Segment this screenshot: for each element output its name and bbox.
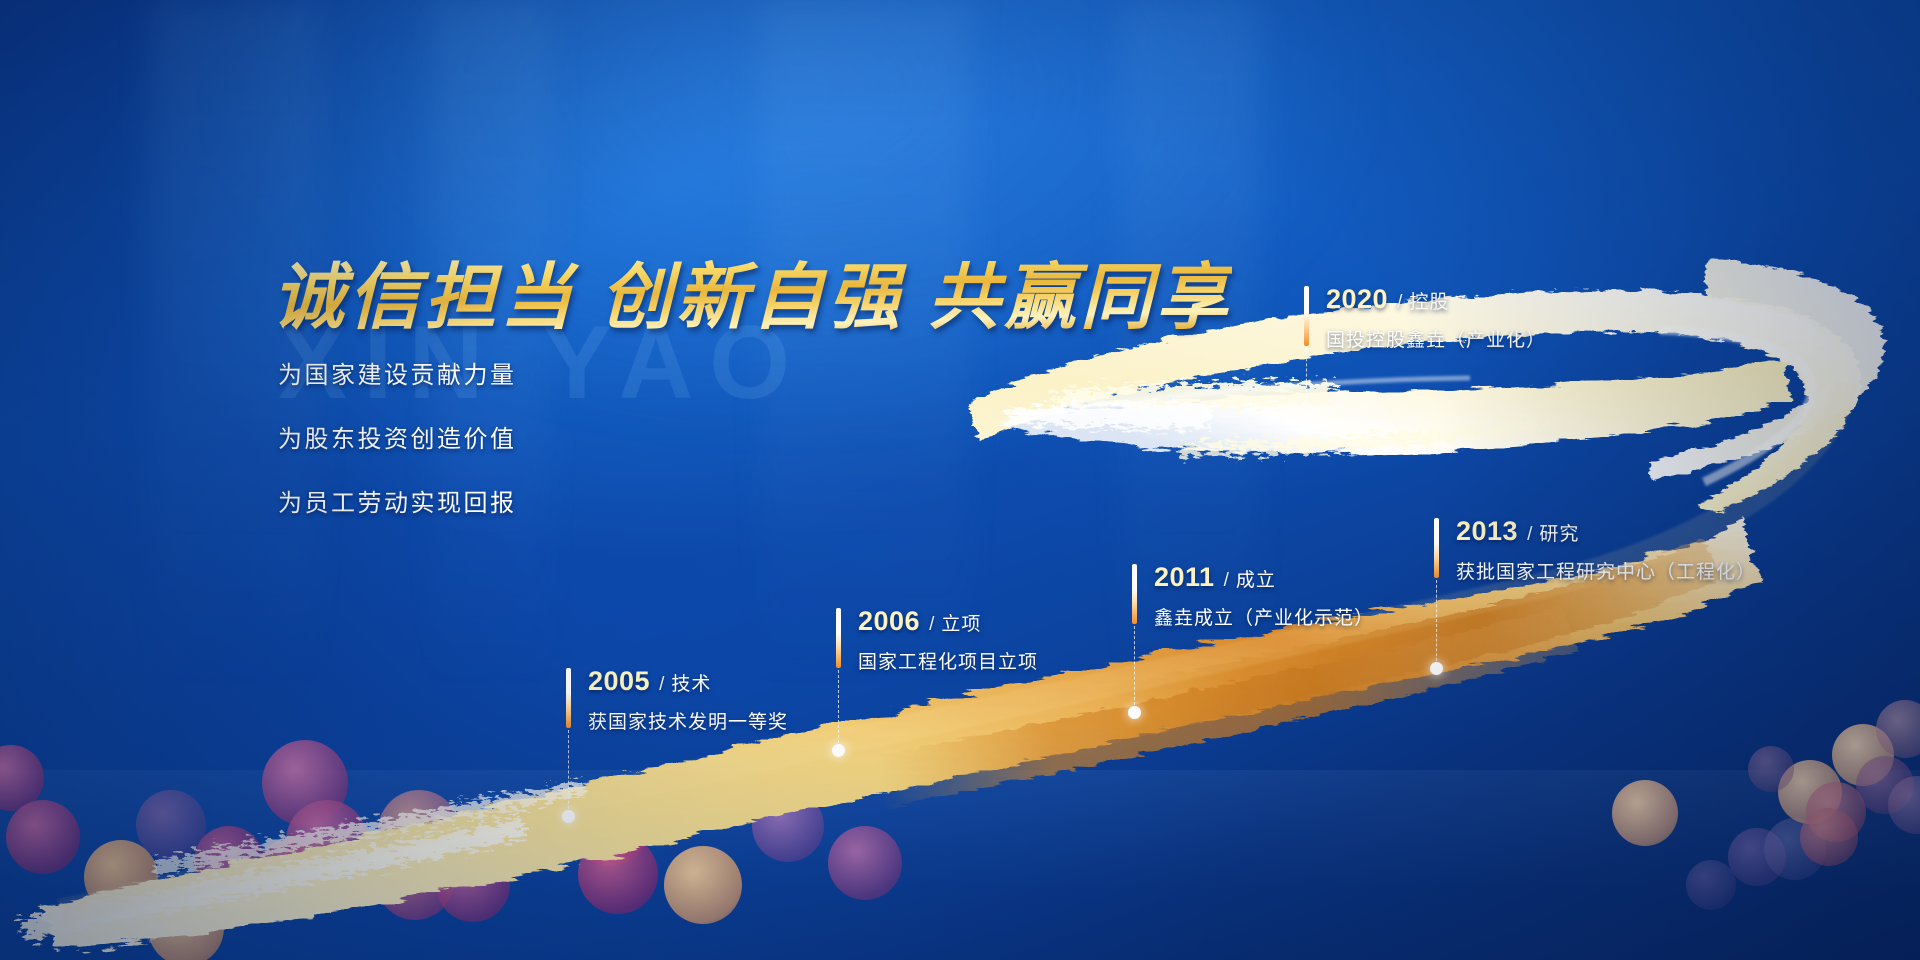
bokeh-circle <box>1856 756 1914 814</box>
timeline-year: 2005 <box>588 666 650 696</box>
page-title: 诚信担当 创新自强 共赢同享 <box>272 238 1232 343</box>
light-beam-3 <box>760 0 970 960</box>
bokeh-circle <box>1806 782 1866 842</box>
timeline-heading: 2020/控股 <box>1326 286 1546 313</box>
bokeh-circle <box>1888 776 1920 834</box>
bokeh-circle <box>1800 808 1858 866</box>
timeline-separator: / <box>1215 570 1236 591</box>
bokeh-circle <box>570 786 650 866</box>
bokeh-circle <box>256 838 328 910</box>
timeline-dot <box>1128 706 1141 719</box>
horizon-band <box>0 770 1920 890</box>
bokeh-circle <box>578 834 658 914</box>
timeline-separator: / <box>920 614 941 635</box>
bokeh-circle <box>376 842 454 920</box>
timeline-kind: 研究 <box>1539 524 1579 545</box>
bokeh-circle <box>1778 760 1842 824</box>
bokeh-circle <box>1748 746 1794 792</box>
timeline-year: 2020 <box>1326 284 1388 314</box>
headline-block: XIN YAO 诚信担当 创新自强 共赢同享 <box>272 238 1232 343</box>
timeline-description: 获批国家工程研究中心（工程化） <box>1456 557 1756 584</box>
bokeh-circle <box>194 826 264 896</box>
timeline-kind: 立项 <box>941 614 981 635</box>
timeline-heading: 2013/研究 <box>1456 518 1756 545</box>
timeline-separator: / <box>1388 292 1409 313</box>
bokeh-circle <box>436 848 510 922</box>
timeline-description: 获国家技术发明一等奖 <box>588 707 788 734</box>
timeline-separator: / <box>650 674 671 695</box>
timeline-dot <box>1430 662 1443 675</box>
bokeh-circle <box>0 745 44 811</box>
timeline-description: 国家工程化项目立项 <box>858 647 1038 674</box>
timeline-kind: 控股 <box>1409 292 1449 313</box>
timeline-connector-line <box>568 730 569 814</box>
bokeh-circle <box>664 846 742 924</box>
bokeh-circle <box>262 740 348 826</box>
bokeh-circle <box>1728 828 1786 886</box>
bokeh-circle <box>1686 860 1736 910</box>
timeline-year: 2013 <box>1456 516 1518 546</box>
banner-stage: XIN YAO 诚信担当 创新自强 共赢同享 为国家建设贡献力量 为股东投资创造… <box>0 0 1920 960</box>
slogan-list: 为国家建设贡献力量 为股东投资创造价值 为员工劳动实现回报 <box>278 355 517 547</box>
timeline-item-2020[interactable]: 2020/控股 国投控股鑫垚（产业化） <box>1304 286 1546 352</box>
timeline-item-2005[interactable]: 2005/技术 获国家技术发明一等奖 <box>566 668 788 734</box>
timeline-marker-bar <box>566 668 571 728</box>
timeline-dot <box>832 744 845 757</box>
timeline-description: 国投控股鑫垚（产业化） <box>1326 325 1546 352</box>
bokeh-circle <box>6 800 80 874</box>
timeline-heading: 2011/成立 <box>1154 564 1374 591</box>
timeline-marker-bar <box>836 608 841 668</box>
timeline-connector-line <box>1306 348 1307 438</box>
timeline-marker-bar <box>1132 564 1137 624</box>
timeline-heading: 2005/技术 <box>588 668 788 695</box>
slogan-line: 为员工劳动实现回报 <box>278 483 517 518</box>
bokeh-circle <box>828 826 902 900</box>
slogan-line: 为国家建设贡献力量 <box>278 355 517 390</box>
timeline-connector-line <box>1436 580 1437 666</box>
timeline-connector-line <box>1134 626 1135 710</box>
timeline-heading: 2006/立项 <box>858 608 1038 635</box>
timeline-dot <box>562 810 575 823</box>
timeline-year: 2011 <box>1154 562 1215 592</box>
timeline-description: 鑫垚成立（产业化示范） <box>1154 603 1374 630</box>
timeline-marker-bar <box>1434 518 1439 578</box>
bokeh-circle <box>1832 724 1894 786</box>
timeline-connector-line <box>838 670 839 748</box>
timeline-marker-bar <box>1304 286 1309 346</box>
bokeh-circle <box>148 890 224 960</box>
bokeh-circle <box>84 840 158 914</box>
timeline-item-2011[interactable]: 2011/成立 鑫垚成立（产业化示范） <box>1132 564 1374 630</box>
timeline-year: 2006 <box>858 606 920 636</box>
timeline-separator: / <box>1518 524 1539 545</box>
bokeh-circle <box>378 790 460 872</box>
bokeh-circle <box>136 790 206 860</box>
timeline-item-2006[interactable]: 2006/立项 国家工程化项目立项 <box>836 608 1038 674</box>
timeline-kind: 成立 <box>1236 570 1276 591</box>
bokeh-circle <box>286 800 368 882</box>
timeline-item-2013[interactable]: 2013/研究 获批国家工程研究中心（工程化） <box>1434 518 1756 584</box>
bokeh-circle <box>752 790 824 862</box>
light-beam-4 <box>1120 0 1260 960</box>
timeline-kind: 技术 <box>671 674 711 695</box>
bokeh-circle <box>1876 700 1920 758</box>
slogan-line: 为股东投资创造价值 <box>278 419 517 454</box>
bokeh-circle <box>1764 818 1826 880</box>
bokeh-circle <box>1612 780 1678 846</box>
